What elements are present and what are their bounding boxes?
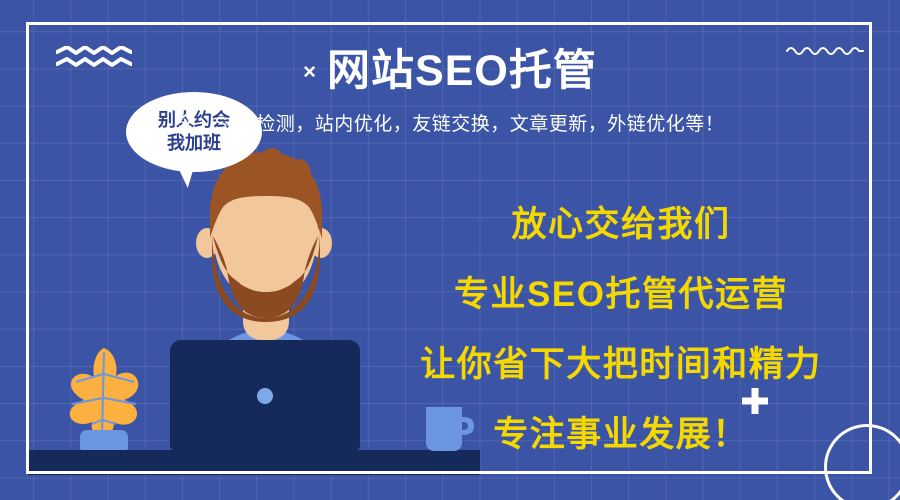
page-title: ×网站SEO托管 [0, 46, 900, 97]
seo-poster: 别人约会 我加班 ×网站SEO托管 含：SEO检测，站内优化，友链交换，文章更新… [0, 0, 900, 500]
page-subtitle: 含：SEO检测，站内优化，友链交换，文章更新，外链优化等！ [0, 112, 900, 138]
slogan-line: 让你省下大把时间和精力 [386, 330, 856, 400]
slogan-list: 放心交给我们 专业SEO托管代运营 让你省下大把时间和精力 专注事业发展！ [386, 190, 856, 470]
close-icon: × [303, 59, 317, 84]
slogan-line: 放心交给我们 [386, 190, 856, 260]
page-title-text: 网站SEO托管 [327, 47, 597, 95]
slogan-line: 专注事业发展！ [386, 400, 856, 470]
potted-plant-icon [52, 344, 156, 456]
laptop-logo-dot [257, 388, 273, 404]
slogan-line: 专业SEO托管代运营 [386, 260, 856, 330]
